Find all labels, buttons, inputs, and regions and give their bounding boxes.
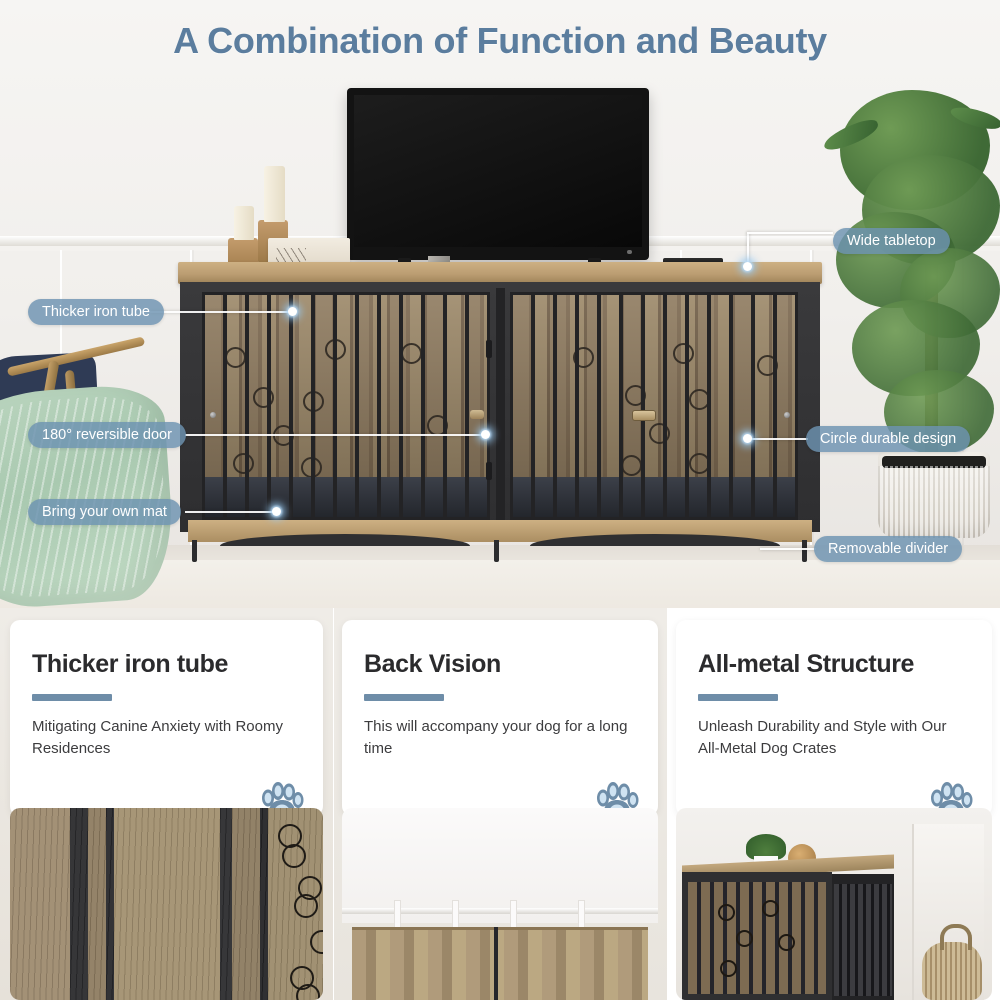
feature-body: Unleash Durability and Style with Our Al… [698,716,966,760]
page-title: A Combination of Function and Beauty [0,20,1000,62]
leader-line [185,511,277,513]
leader-line [150,311,292,313]
feature-photo-back-panel [342,808,658,1000]
feature-column: All-metal Structure Unleash Durability a… [668,608,1000,1000]
leader-line [747,232,833,234]
wood-grain [10,808,323,1000]
feature-heading: All-metal Structure [698,650,914,679]
feature-card-back-vision: Back Vision This will accompany your dog… [342,620,658,816]
pillar-candle [234,206,254,240]
removable-divider-panel[interactable] [496,288,505,524]
woven-lantern [922,942,982,1000]
photo-content [342,808,658,1000]
screw-icon [210,412,216,418]
crate-leg [192,540,197,562]
leader-line [747,232,749,266]
callout-wide-tabletop[interactable]: Wide tabletop [833,228,950,254]
screw-icon [784,412,790,418]
wood-slat-panel [688,882,826,994]
feature-photo-angled-crate [676,808,992,1000]
callout-circle-durable-design[interactable]: Circle durable design [806,426,970,452]
planter [878,452,990,538]
hotspot-dot [272,507,281,516]
feature-column: Back Vision This will accompany your dog… [334,608,667,1000]
crate-leg [802,540,807,562]
leader-line [760,548,816,550]
crate-door-left[interactable] [202,292,490,520]
callout-removable-divider[interactable]: Removable divider [814,536,962,562]
leader-line [185,434,485,436]
hotspot-dot [481,430,490,439]
hotspot-dot [743,434,752,443]
iron-bars [513,295,795,517]
hero-scene: A Combination of Function and Beauty [0,0,1000,620]
throw-blanket [0,382,177,613]
feature-heading: Back Vision [364,650,501,679]
crate-tabletop [178,262,822,284]
callout-thicker-iron-tube[interactable]: Thicker iron tube [28,299,164,325]
heading-rule [698,694,778,701]
pillar-candle [264,166,285,222]
leader-line [748,438,808,440]
hotspot-dot [743,262,752,271]
circle-detail-icon [282,844,306,868]
iron-bars [834,884,892,996]
crate-leg [494,540,499,562]
circle-detail-icon [294,894,318,918]
photo-wall [342,808,658,923]
feature-section: Thicker iron tube Mitigating Canine Anxi… [0,608,1000,1000]
feature-photo-crate-interior [10,808,323,1000]
heading-rule [32,694,112,701]
callout-bring-own-mat[interactable]: Bring your own mat [28,499,181,525]
hotspot-dot [288,307,297,316]
lantern-handle [940,924,972,950]
circle-detail-icon [762,900,779,917]
photo-molding [342,908,658,914]
tv-power-led-icon [627,250,632,254]
feature-body: This will accompany your dog for a long … [364,716,632,760]
circle-detail-icon [778,934,795,951]
crate-center-post [494,927,498,1000]
circle-detail-icon [720,960,737,977]
feature-card-thicker-iron-tube: Thicker iron tube Mitigating Canine Anxi… [10,620,323,816]
photo-content [676,808,992,1000]
door-latch[interactable] [470,410,484,419]
feature-card-all-metal-structure: All-metal Structure Unleash Durability a… [676,620,992,816]
photo-content [10,808,323,1000]
tv-screen [354,95,642,247]
feature-column: Thicker iron tube Mitigating Canine Anxi… [0,608,333,1000]
iron-bars [205,295,487,517]
door-hinge [486,462,492,480]
feature-body: Mitigating Canine Anxiety with Roomy Res… [32,716,300,760]
circle-detail-icon [718,904,735,921]
door-latch[interactable] [632,410,656,421]
heading-rule [364,694,444,701]
infographic-page: A Combination of Function and Beauty [0,0,1000,1000]
crate-back-panel [352,927,648,1000]
door-hinge [486,340,492,358]
feature-heading: Thicker iron tube [32,650,228,679]
circle-detail-icon [736,930,753,947]
callout-reversible-door[interactable]: 180° reversible door [28,422,186,448]
crate-door-right[interactable] [510,292,798,520]
